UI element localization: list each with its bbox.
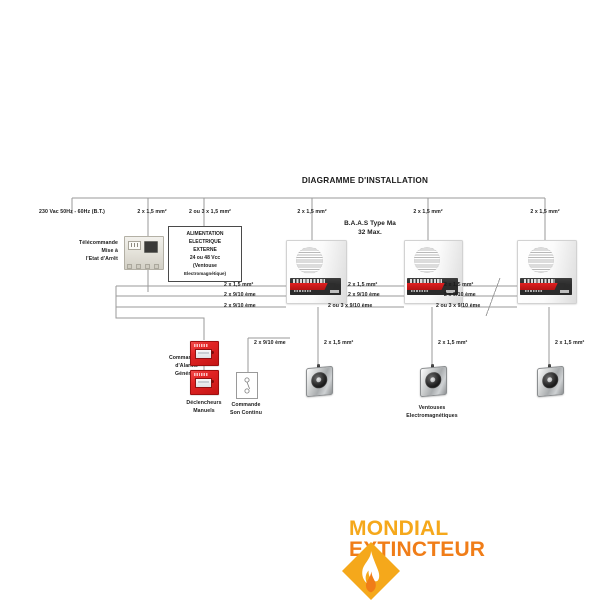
telecommande-module[interactable]: [124, 236, 162, 268]
son-continu-line2: Son Continu: [230, 410, 262, 418]
telecommande-terminals: [127, 264, 159, 267]
label-son-continu-feed: 2 x 9/10 ème: [254, 340, 286, 348]
label-right-bus-3: 2 ou 3 x 9/10 ème: [436, 303, 480, 311]
manual-call-point-2-text: [194, 373, 208, 376]
baas-section-subtitle: 32 Max.: [358, 228, 382, 238]
baas-2-model-text: [411, 290, 428, 293]
label-psu-feed: 2 ou 3 x 1,5 mm²: [189, 209, 231, 217]
declencheurs-line2: Manuels: [193, 408, 214, 416]
label-left-bus-1: 2 x 1,5 mm²: [224, 282, 253, 290]
label-ventouse3-feed: 2 x 1,5 mm²: [555, 340, 584, 348]
baas-unit-1[interactable]: [286, 240, 345, 302]
label-left-bus-3: 2 x 9/10 ème: [224, 303, 256, 311]
label-mid-bus-2: 2 x 9/10 ème: [348, 292, 380, 300]
baas-1-brand-text: [293, 279, 325, 283]
label-right-bus-2: 2 x 9/10 ème: [444, 292, 476, 300]
baas-2-brand-text: [410, 279, 441, 283]
baas-1-label-strip: [290, 278, 342, 294]
label-right-bus-1: 2 x 1,5 mm²: [444, 282, 473, 290]
psu-line2: ELECTRIQUE: [171, 238, 239, 246]
brand-line-1: MONDIAL: [349, 519, 485, 540]
baas-1-speaker-grille: [296, 247, 323, 274]
psu-line6: Electromagnétique): [171, 270, 239, 277]
manual-call-point-1-text: [194, 344, 208, 347]
telecommande-label-line2: Mise à: [74, 248, 118, 256]
telecommande-label-line3: l'Etat d'Arrêt: [74, 256, 118, 264]
ventouses-line1: Ventouses: [419, 405, 446, 413]
label-left-bus-2: 2 x 9/10 ème: [224, 292, 256, 300]
ventouse-electromagnetique-3[interactable]: [537, 364, 562, 394]
manual-call-point-2-window: [195, 378, 212, 388]
brand-logo: MONDIAL EXTINCTEUR: [340, 519, 485, 561]
manual-call-point-2[interactable]: [190, 370, 217, 393]
ventouse-3-magnet: [542, 371, 558, 388]
label-mains-supply: 230 Vac 50Hz - 60Hz (B.T.): [39, 209, 105, 217]
ventouse-2-magnet: [425, 371, 441, 388]
psu-line1: ALIMENTATION: [171, 230, 239, 238]
label-ventouse1-feed: 2 x 1,5 mm²: [324, 340, 353, 348]
contact-symbol-icon: [237, 373, 257, 398]
psu-line3: EXTERNE: [171, 246, 239, 254]
baas-3-mark: [560, 290, 569, 293]
label-baas1-feed: 2 x 1,5 mm²: [297, 209, 326, 217]
label-ventouse2-feed: 2 x 1,5 mm²: [438, 340, 467, 348]
external-power-supply-box: ALIMENTATION ELECTRIQUE EXTERNE 24 ou 48…: [168, 226, 242, 282]
ventouses-line2: Electromagnétiques: [406, 413, 457, 421]
son-continu-line1: Commande: [231, 402, 260, 410]
telecommande-dial: [128, 241, 141, 250]
ventouse-electromagnetique-2[interactable]: [420, 364, 445, 394]
telecommande-display: [144, 241, 158, 253]
son-continu-contact[interactable]: [236, 372, 258, 399]
baas-3-model-text: [525, 290, 542, 293]
baas-3-brand-text: [524, 279, 556, 283]
baas-3-speaker-grille: [528, 247, 554, 273]
label-telecommande-feed: 2 x 1,5 mm²: [137, 209, 166, 217]
baas-2-speaker-grille: [414, 247, 440, 273]
psu-line4: 24 ou 48 Vcc: [171, 254, 239, 262]
declencheurs-line1: Déclencheurs: [186, 400, 221, 408]
ventouse-1-magnet: [311, 371, 327, 388]
baas-1-model-text: [294, 290, 312, 293]
baas-unit-3[interactable]: [517, 240, 575, 302]
psu-line5: (Ventouse: [171, 262, 239, 270]
telecommande-label-line1: Télécommande: [74, 240, 118, 248]
baas-3-label-strip: [520, 278, 571, 294]
label-mid-bus-3: 2 ou 3 x 9/10 ème: [328, 303, 372, 311]
label-mid-bus-1: 2 x 1,5 mm²: [348, 282, 377, 290]
ventouse-electromagnetique-1[interactable]: [306, 364, 331, 394]
installation-diagram: DIAGRAMME D'INSTALLATION: [0, 0, 600, 600]
label-baas2-feed: 2 x 1,5 mm²: [413, 209, 442, 217]
baas-1-mark: [330, 290, 339, 293]
label-baas3-feed: 2 x 1,5 mm²: [530, 209, 559, 217]
manual-call-point-1[interactable]: [190, 341, 217, 364]
manual-call-point-1-window: [195, 349, 212, 359]
